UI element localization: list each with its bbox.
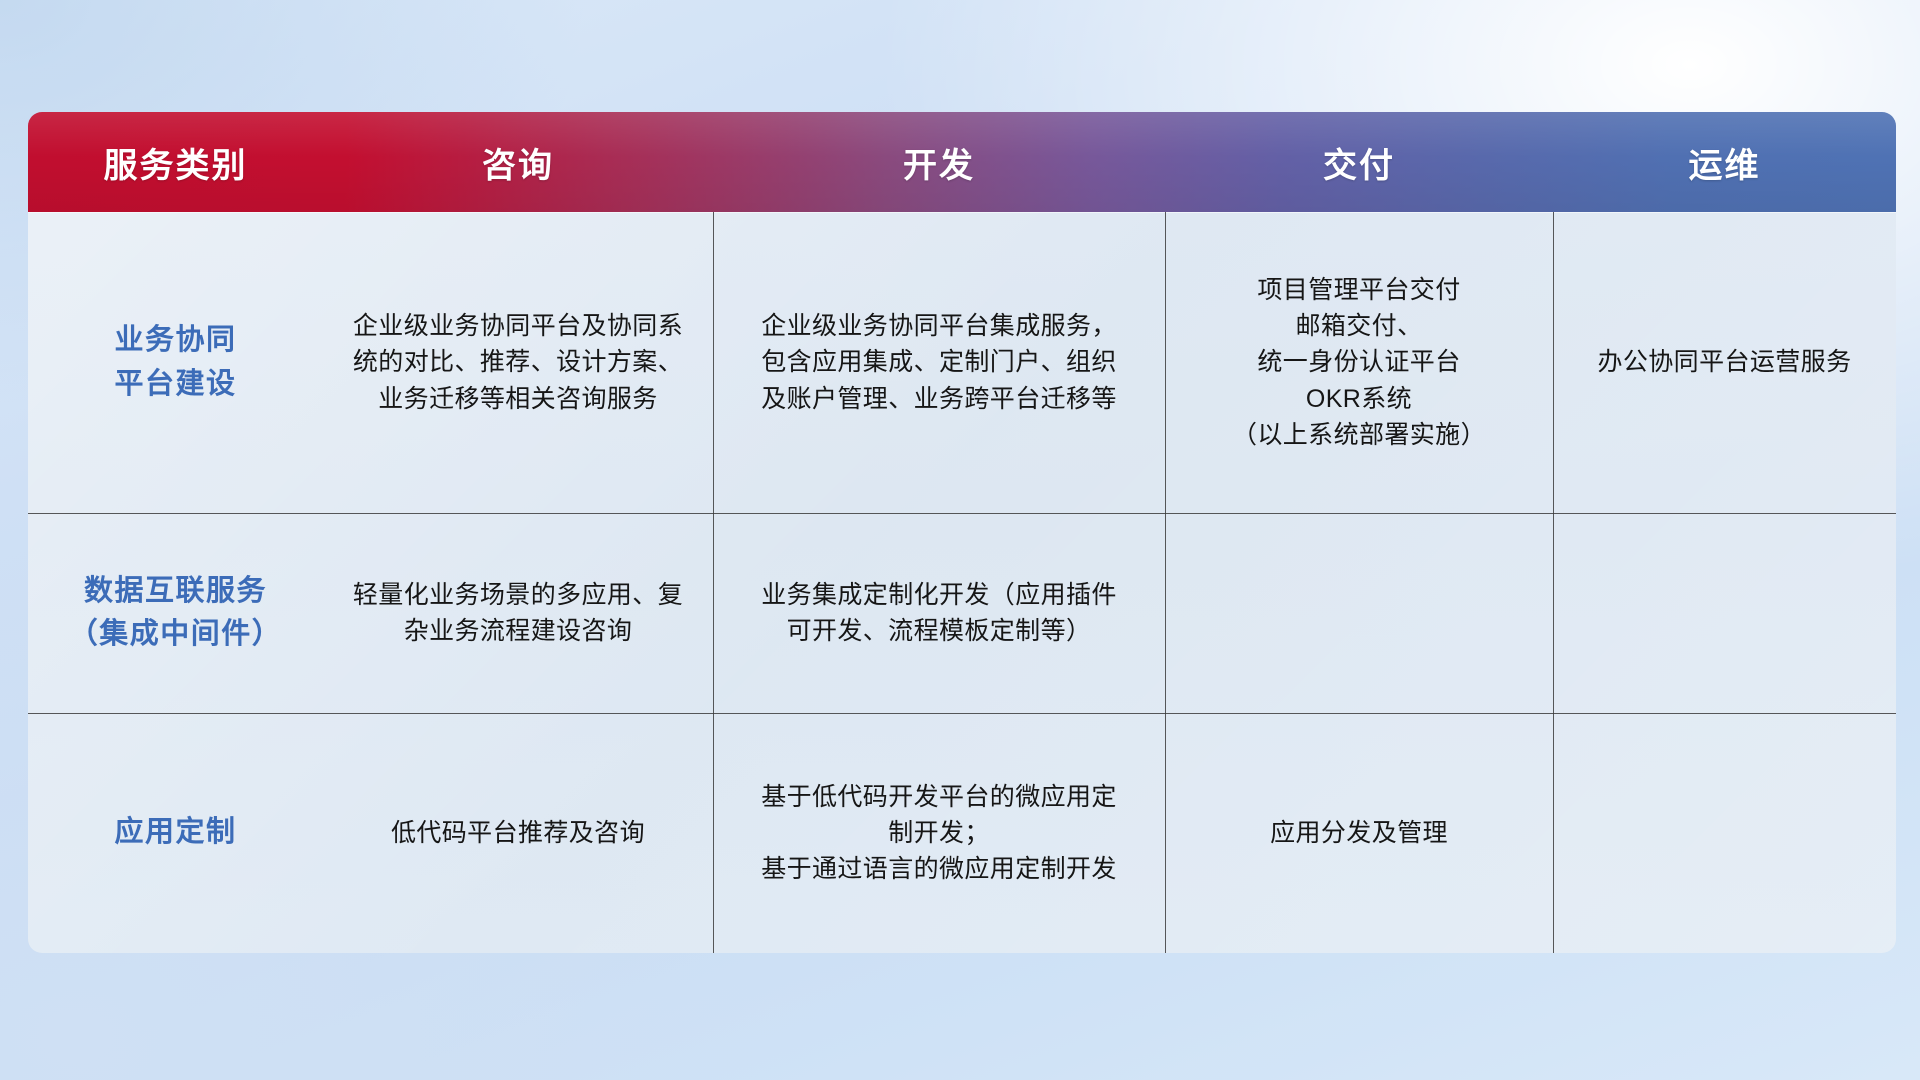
table-row: 数据互联服务 （集成中间件） 轻量化业务场景的多应用、复 杂业务流程建设咨询 业…	[28, 513, 1896, 713]
header-cell-consulting: 咨询	[323, 112, 713, 212]
service-category-table: 服务类别 咨询 开发 交付 运维 业务协同 平台建设 企业级业务协同平台及协同系…	[28, 112, 1896, 953]
cell-r2-operations	[1553, 513, 1896, 713]
page-background: 服务类别 咨询 开发 交付 运维 业务协同 平台建设 企业级业务协同平台及协同系…	[0, 0, 1920, 1080]
cell-r2-development: 业务集成定制化开发（应用插件 可开发、流程模板定制等）	[713, 513, 1165, 713]
cell-r1-consulting: 企业级业务协同平台及协同系 统的对比、推荐、设计方案、 业务迁移等相关咨询服务	[323, 212, 713, 513]
column-divider-1	[713, 212, 714, 953]
cell-r1-delivery: 项目管理平台交付 邮箱交付、 统一身份认证平台 OKR系统 （以上系统部署实施）	[1165, 212, 1553, 513]
cell-r3-consulting: 低代码平台推荐及咨询	[323, 713, 713, 953]
row-label-app-customization: 应用定制	[28, 713, 323, 953]
column-divider-2	[1165, 212, 1166, 953]
table-row: 应用定制 低代码平台推荐及咨询 基于低代码开发平台的微应用定 制开发； 基于通过…	[28, 713, 1896, 953]
table-row: 业务协同 平台建设 企业级业务协同平台及协同系 统的对比、推荐、设计方案、 业务…	[28, 212, 1896, 513]
cell-r2-delivery	[1165, 513, 1553, 713]
header-cell-category: 服务类别	[28, 112, 323, 212]
header-cell-development: 开发	[713, 112, 1165, 212]
cell-r3-delivery: 应用分发及管理	[1165, 713, 1553, 953]
cell-r1-operations: 办公协同平台运营服务	[1553, 212, 1896, 513]
cell-r2-consulting: 轻量化业务场景的多应用、复 杂业务流程建设咨询	[323, 513, 713, 713]
header-cell-delivery: 交付	[1165, 112, 1553, 212]
table-header-row: 服务类别 咨询 开发 交付 运维	[28, 112, 1896, 212]
column-divider-3	[1553, 212, 1554, 953]
table-body: 业务协同 平台建设 企业级业务协同平台及协同系 统的对比、推荐、设计方案、 业务…	[28, 212, 1896, 953]
row-label-data-integration: 数据互联服务 （集成中间件）	[28, 513, 323, 713]
header-cell-operations: 运维	[1553, 112, 1896, 212]
cell-r1-development: 企业级业务协同平台集成服务， 包含应用集成、定制门户、组织 及账户管理、业务跨平…	[713, 212, 1165, 513]
row-divider-2	[28, 713, 1896, 714]
row-divider-1	[28, 513, 1896, 514]
cell-r3-development: 基于低代码开发平台的微应用定 制开发； 基于通过语言的微应用定制开发	[713, 713, 1165, 953]
row-label-business-collaboration: 业务协同 平台建设	[28, 212, 323, 513]
cell-r3-operations	[1553, 713, 1896, 953]
